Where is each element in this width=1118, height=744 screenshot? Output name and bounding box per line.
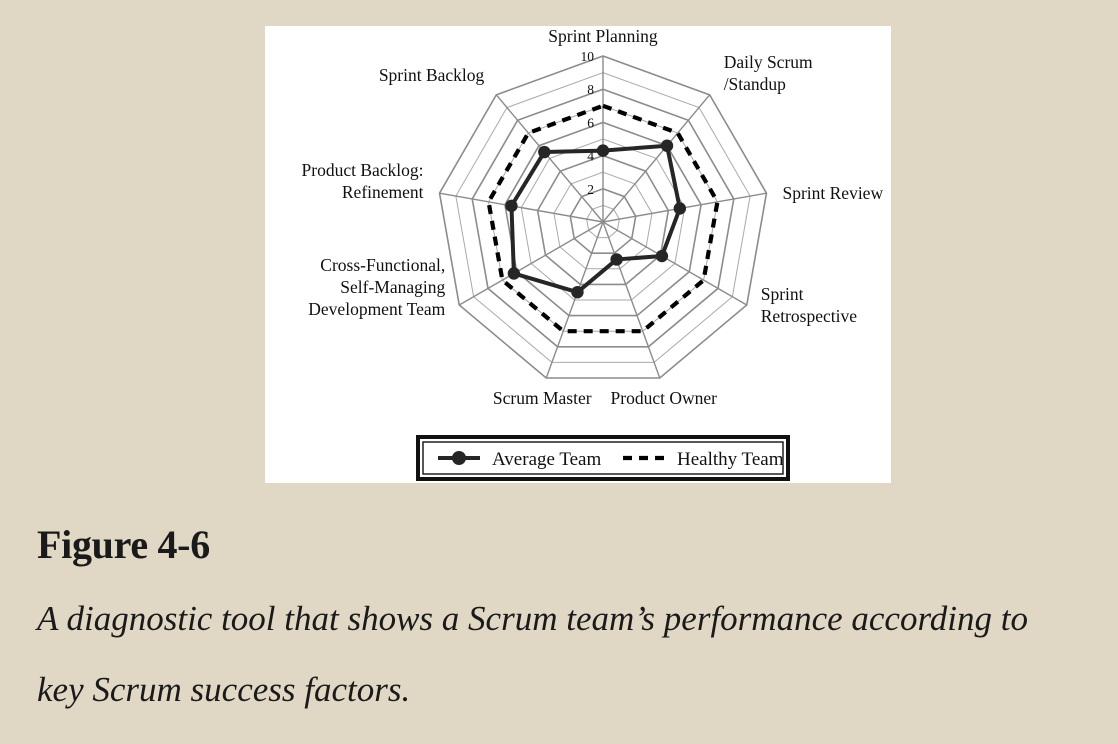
average-team-marker-2 [674,202,686,214]
axis-label-line: Daily Scrum [724,52,813,72]
legend-label-healthy-team: Healthy Team [677,449,784,470]
grid-spoke-1 [603,95,710,222]
axis-label-1: Daily Scrum/Standup [724,52,813,94]
axis-label-line: Self-Managing [340,277,445,297]
average-team-marker-7 [505,200,517,212]
radial-tick-10: 10 [581,49,595,64]
axis-label-line: Product Backlog: [302,160,424,180]
axis-label-line: Sprint Backlog [379,65,485,85]
axis-label-0: Sprint Planning [548,26,658,46]
grid-spoke-7 [440,193,603,222]
axis-label-line: Scrum Master [493,388,592,408]
chart-legend: Average TeamHealthy Team [418,437,788,479]
axis-label-line: Cross-Functional, [320,255,445,275]
legend-label-average-team: Average Team [492,449,601,470]
radial-tick-2: 2 [587,182,594,197]
average-team-marker-6 [508,267,520,279]
axis-label-line: Sprint Review [782,183,883,203]
axis-label-line: Product Owner [611,388,718,408]
radial-tick-6: 6 [587,115,594,130]
legend-swatch-marker [452,451,466,465]
tick-labels: 246810 [581,49,595,197]
axis-label-7: Product Backlog:Refinement [302,160,424,202]
average-team-marker-8 [538,146,550,158]
average-team-marker-3 [656,250,668,262]
axis-label-line: /Standup [724,74,786,94]
average-team-marker-5 [571,286,583,298]
average-team-marker-0 [597,144,609,156]
axis-label-5: Scrum Master [493,388,592,408]
axis-label-line: Retrospective [761,306,857,326]
radial-tick-8: 8 [587,82,594,97]
axis-label-3: SprintRetrospective [761,284,857,326]
average-team-marker-4 [610,253,622,265]
figure-panel: 246810 Sprint PlanningDaily Scrum/Standu… [265,26,891,483]
radar-chart: 246810 Sprint PlanningDaily Scrum/Standu… [265,26,891,483]
average-team-polygon [511,146,679,293]
axis-label-line: Development Team [308,299,445,319]
axis-label-line: Sprint [761,284,804,304]
grid-spoke-3 [603,222,747,305]
figure-caption-text: A diagnostic tool that shows a Scrum tea… [37,583,1067,725]
average-team-marker-1 [661,140,673,152]
axis-label-4: Product Owner [611,388,718,408]
axis-label-line: Sprint Planning [548,26,658,46]
axis-label-6: Cross-Functional,Self-ManagingDevelopmen… [308,255,445,319]
axis-label-line: Refinement [342,182,424,202]
axis-label-2: Sprint Review [782,183,883,203]
figure-number: Figure 4-6 [37,521,1087,569]
figure-caption-block: Figure 4-6 A diagnostic tool that shows … [37,521,1087,725]
axis-label-8: Sprint Backlog [379,65,485,85]
